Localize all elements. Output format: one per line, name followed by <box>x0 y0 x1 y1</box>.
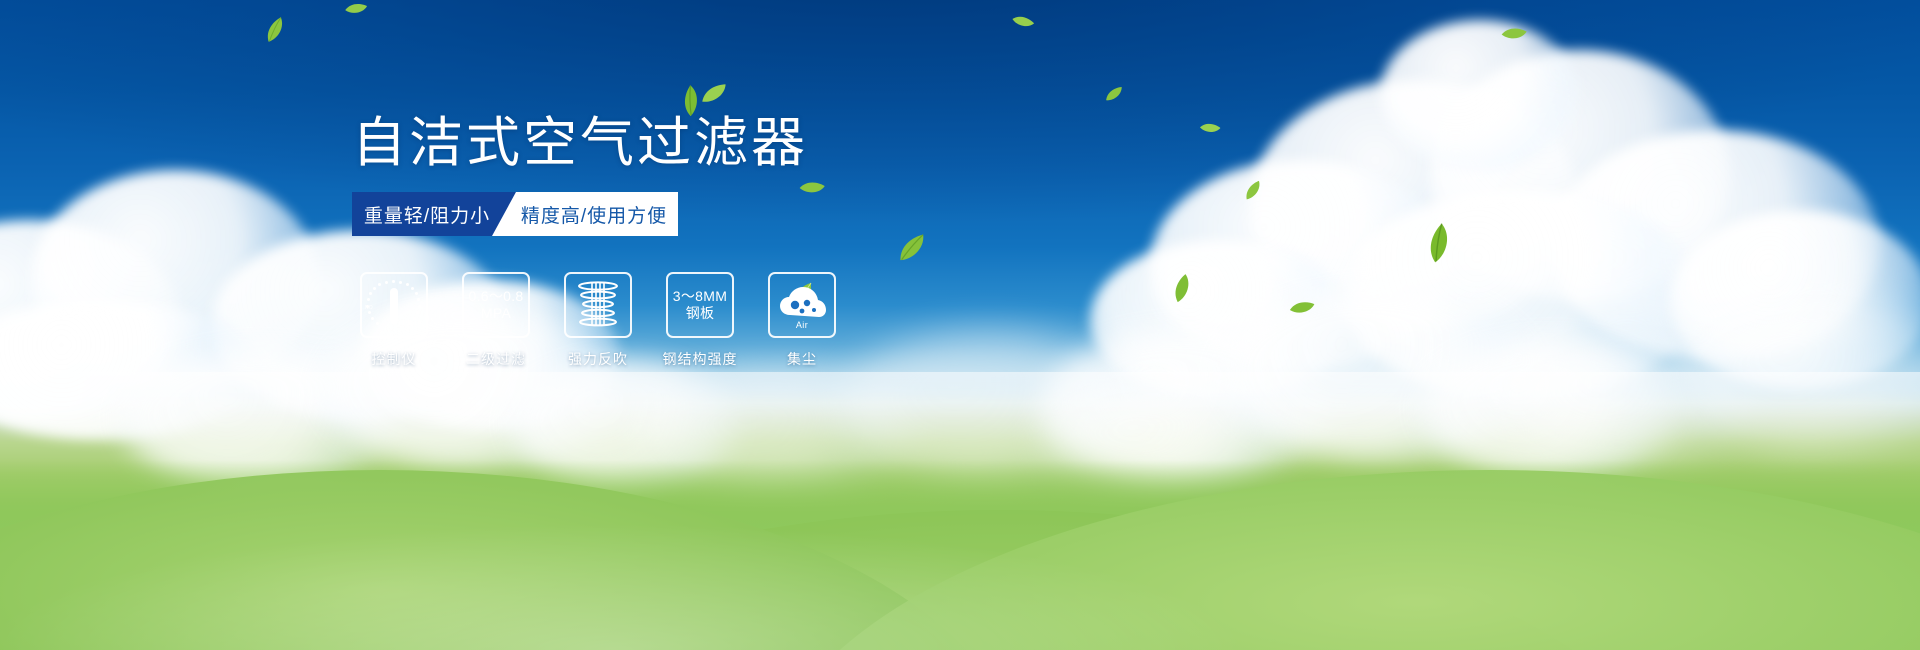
feature-item: NO OFF 控制仪 <box>360 272 428 369</box>
page-title: 自洁式空气过滤器 <box>352 112 808 174</box>
feature-icon-box: Air <box>768 272 836 338</box>
feature-caption: 钢结构强度 <box>663 349 738 369</box>
feature-item: 强力反吹 <box>564 272 632 369</box>
pressure-range: 0.6～0.8 <box>468 288 523 305</box>
feature-icon-box: 0.6～0.8 MPA <box>462 272 530 338</box>
feature-caption: 集尘 <box>787 349 817 369</box>
coil-filter-icon <box>575 279 621 331</box>
feature-icon-box: NO OFF <box>360 272 428 338</box>
tagline-right: 精度高/使用方便 <box>492 192 678 236</box>
feature-item: 3～8MM 钢板 钢结构强度 <box>666 272 734 369</box>
steel-thickness: 3～8MM <box>673 288 727 305</box>
pressure-unit: MPA <box>468 305 523 322</box>
feature-caption: 强力反吹 <box>568 349 628 369</box>
feature-item: 0.6～0.8 MPA 二级过滤 <box>462 272 530 369</box>
steel-material: 钢板 <box>673 305 727 322</box>
control-dial-icon: NO OFF <box>366 279 422 331</box>
feature-list: NO OFF 控制仪 0.6～0.8 MPA 二级过滤 <box>360 272 836 369</box>
tagline-left: 重量轻/阻力小 <box>352 192 516 236</box>
dial-label-right: OFF <box>410 321 421 327</box>
hero-banner: 自洁式空气过滤器 重量轻/阻力小 精度高/使用方便 <box>0 0 1920 650</box>
feature-icon-box: 3～8MM 钢板 <box>666 272 734 338</box>
pressure-text-icon: 0.6～0.8 MPA <box>468 288 523 322</box>
cloud-air-icon: Air <box>777 281 827 329</box>
dial-needle <box>390 288 398 324</box>
feature-caption: 二级过滤 <box>466 349 526 369</box>
steel-plate-text-icon: 3～8MM 钢板 <box>673 288 727 322</box>
air-label: Air <box>777 320 827 330</box>
feature-caption: 控制仪 <box>372 349 417 369</box>
tagline-group: 重量轻/阻力小 精度高/使用方便 <box>352 192 678 236</box>
feature-icon-box <box>564 272 632 338</box>
feature-item: Air 集尘 <box>768 272 836 369</box>
dial-label-left: NO <box>365 305 373 311</box>
banner-content: 自洁式空气过滤器 重量轻/阻力小 精度高/使用方便 <box>0 0 1920 650</box>
